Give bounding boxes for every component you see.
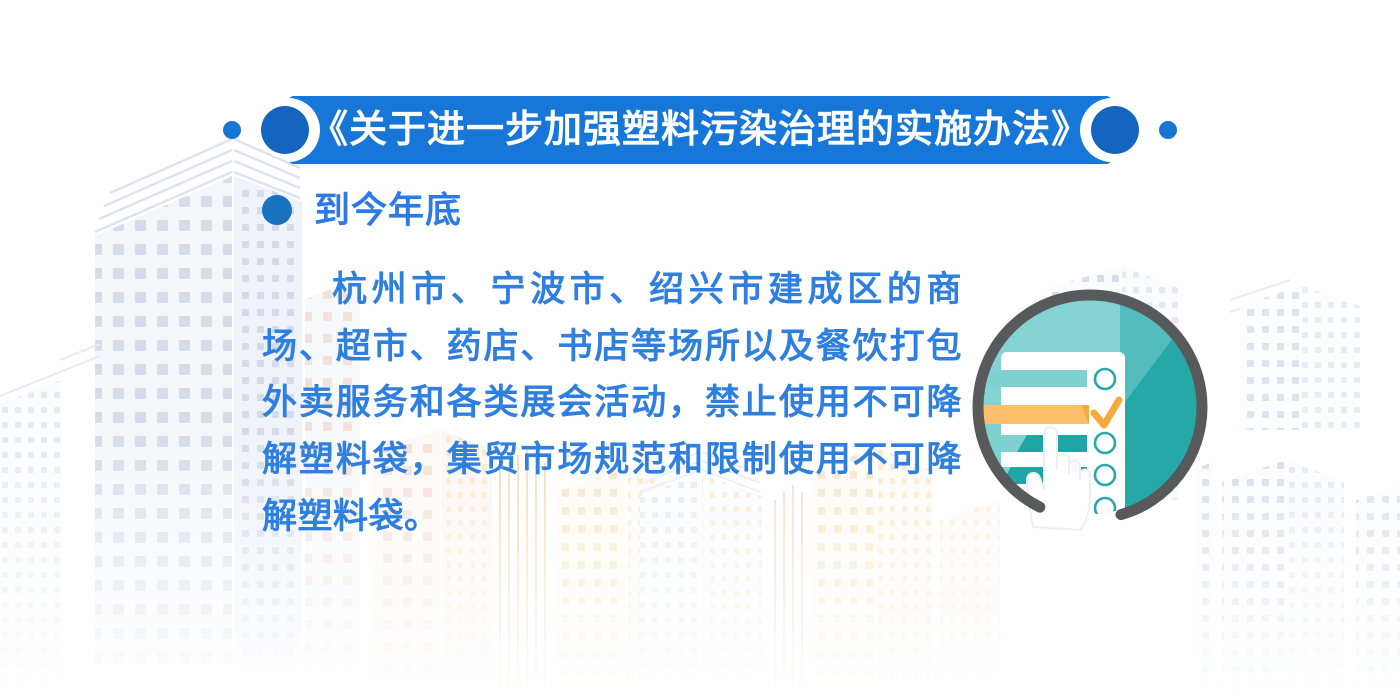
- slide-canvas: 《关于进一步加强塑料污染治理的实施办法》 到今年底 杭州市、宁波市、绍兴市建成区…: [0, 0, 1400, 700]
- bullet-circle-icon: [262, 195, 292, 225]
- building-left-edge-block: [0, 380, 62, 690]
- title-banner: 《关于进一步加强塑料污染治理的实施办法》: [0, 92, 1400, 168]
- section-heading-label: 到今年底: [314, 192, 462, 228]
- body-paragraph: 杭州市、宁波市、绍兴市建成区的商场、超市、药店、书店等场所以及餐饮打包外卖服务和…: [262, 262, 962, 545]
- building-upper-right-dots: [1240, 286, 1360, 430]
- title-text: 《关于进一步加强塑料污染治理的实施办法》: [0, 92, 1400, 168]
- section-heading: 到今年底: [262, 192, 462, 228]
- checklist-circle-illustration: [965, 282, 1215, 532]
- building-far-right-c: [1356, 486, 1400, 690]
- building-left-edge-lines: [0, 344, 100, 408]
- building-far-right-b: [1222, 460, 1344, 690]
- building-right-edge-lines: [1230, 280, 1290, 312]
